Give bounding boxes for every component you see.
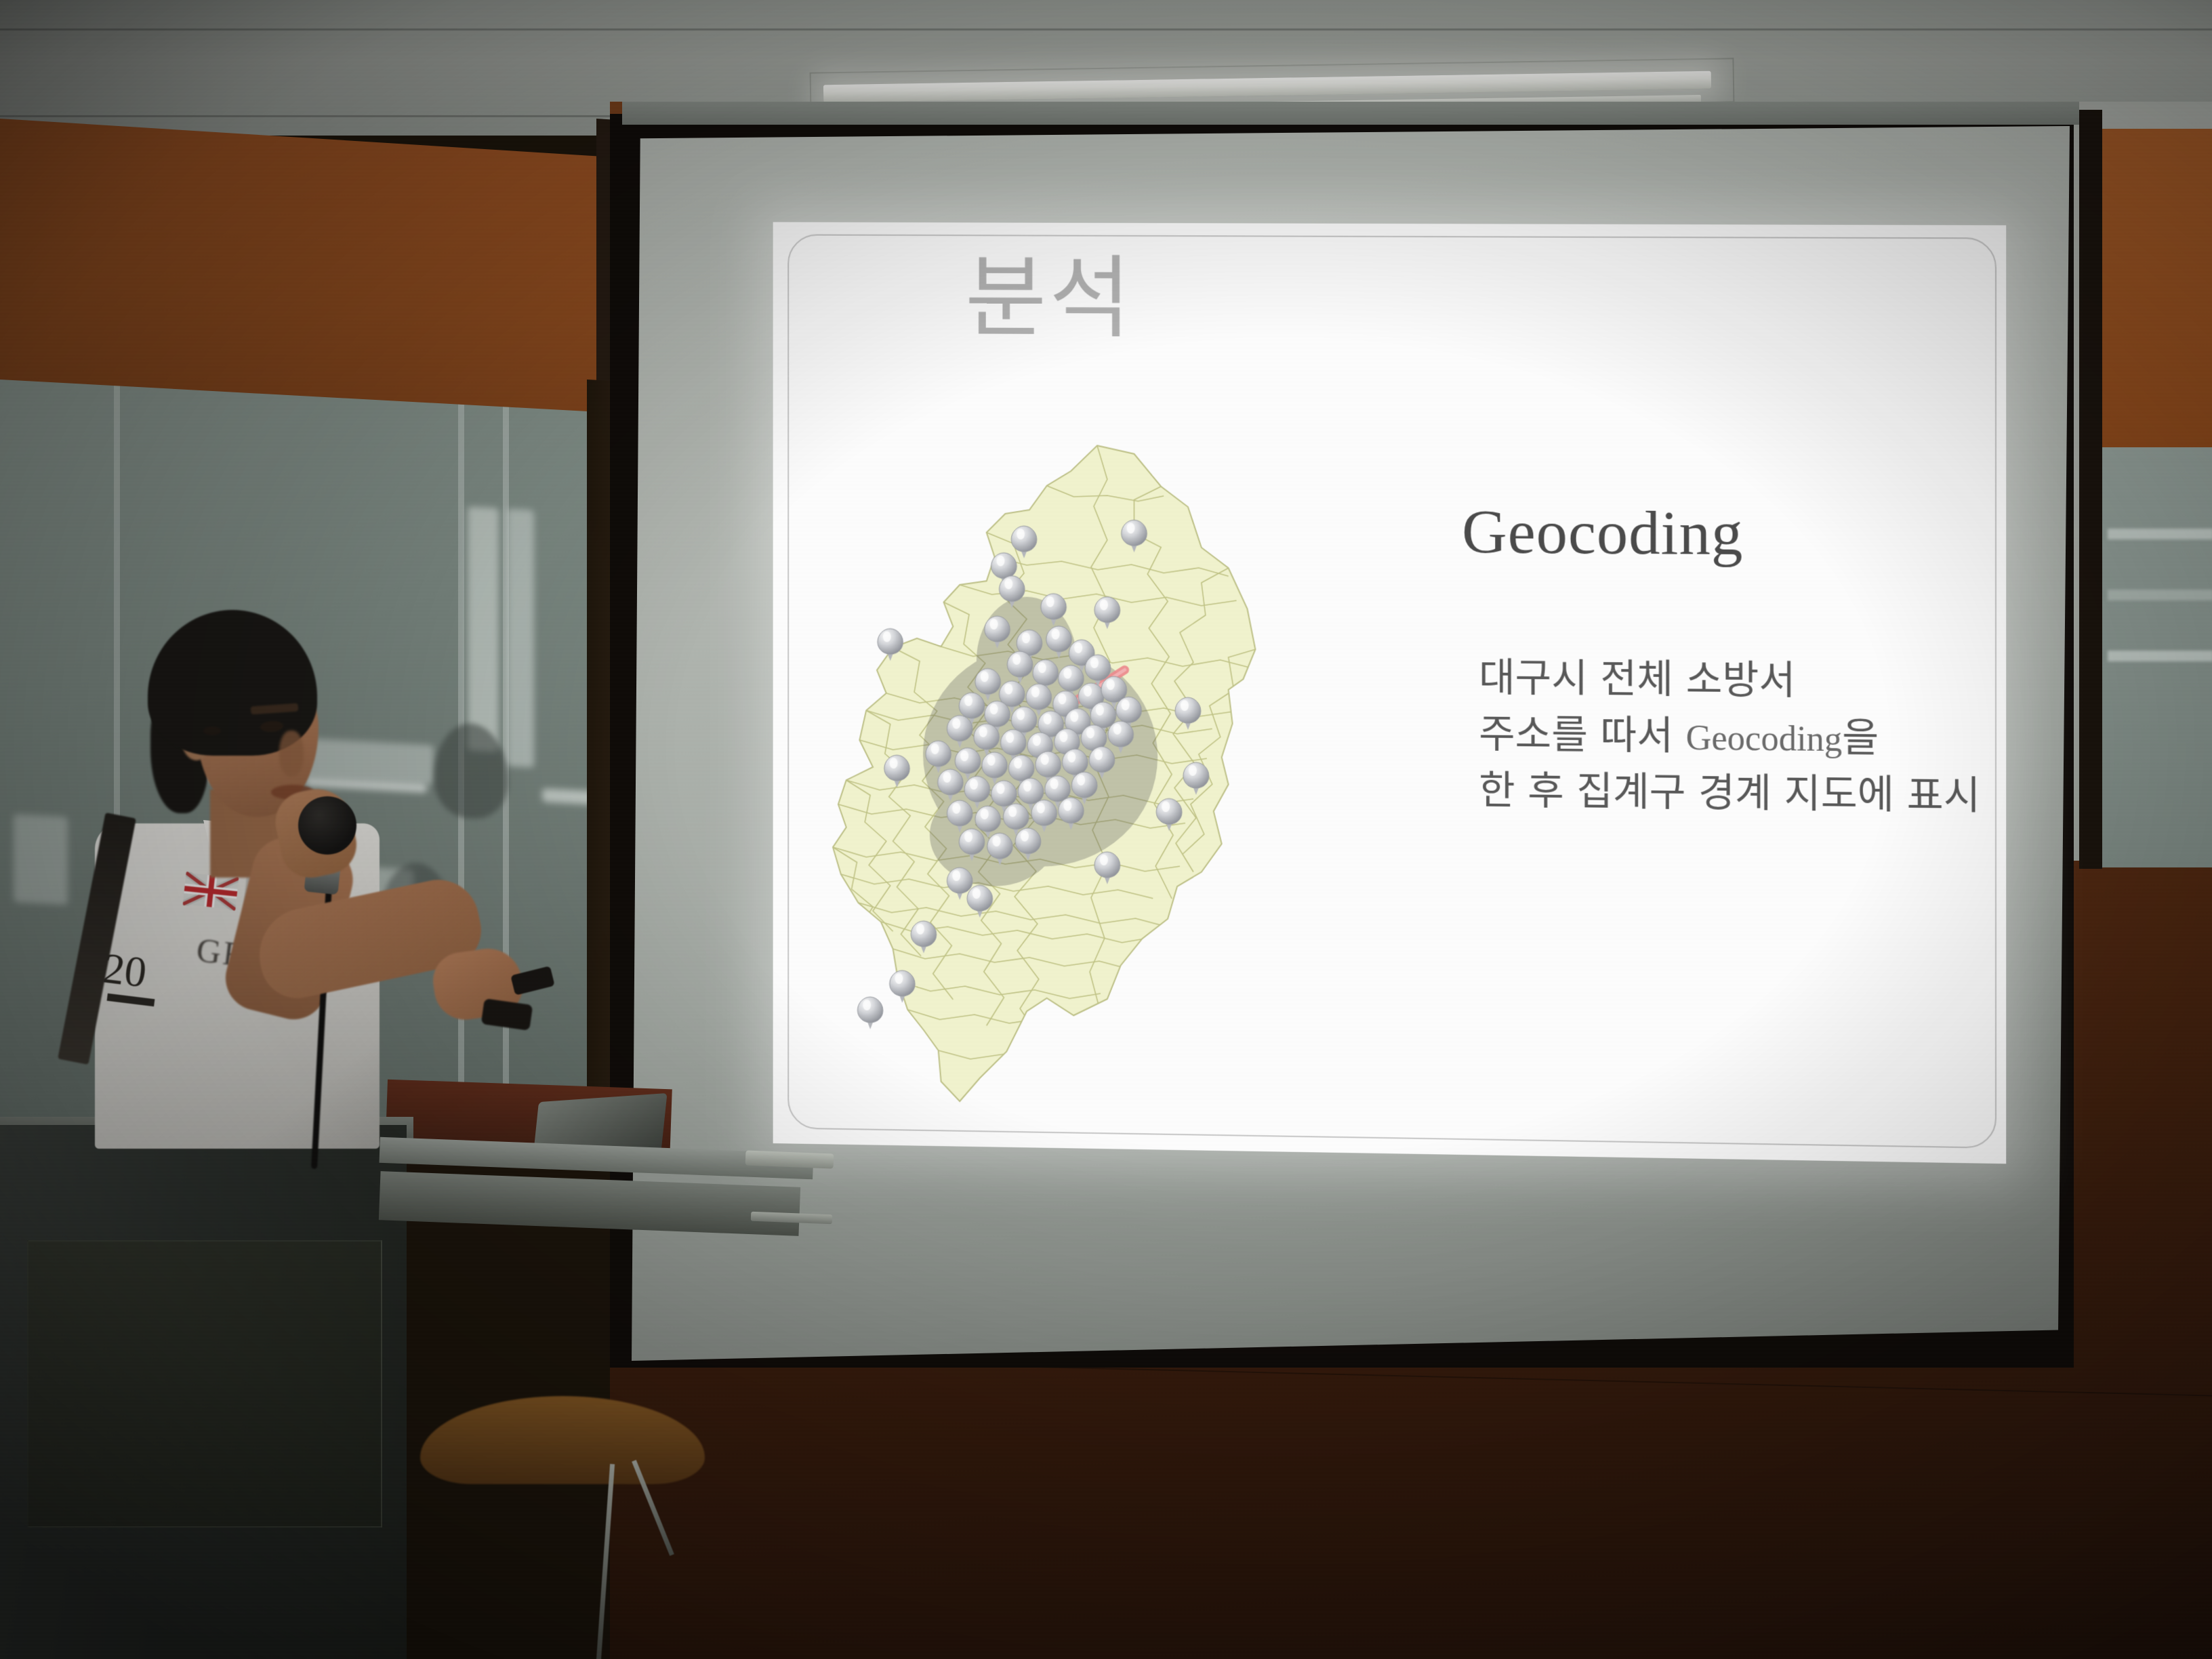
projected-slide: 분석 (773, 222, 2007, 1164)
body-line-2-post: 을 (1842, 714, 1879, 761)
right-wood-band (2101, 129, 2212, 454)
right-glass-panel (2101, 447, 2212, 867)
slide-title: 분석 (965, 249, 1133, 348)
body-line-2-pre: 주소를 따서 (1479, 711, 1685, 759)
presenter-eye (203, 726, 221, 735)
geocoding-body: 대구시 전체 소방서 주소를 따서 Geocoding을 한 후 집계구 경계 … (1479, 651, 1986, 826)
presenter-nose (279, 731, 304, 777)
map-marker-pin (857, 997, 882, 1029)
body-line-3: 한 후 집계구 경계 지도에 표시 (1479, 764, 1986, 823)
body-line-2-serif: Geocoding (1686, 719, 1843, 760)
census-tract-map (760, 403, 1336, 1131)
screenshot-root: 분석 (0, 0, 2212, 1659)
body-line-2: 주소를 따서 Geocoding을 (1479, 708, 1986, 766)
body-line-1: 대구시 전체 소방서 (1479, 651, 1986, 709)
ceiling-seam (0, 28, 2212, 30)
screen-roller (622, 102, 2079, 125)
geocoding-heading: Geocoding (1462, 495, 1743, 569)
shirt-number: 20 (100, 943, 150, 998)
microphone-icon (298, 796, 356, 855)
map-graphic (760, 403, 1336, 1131)
right-wall-edge (2079, 110, 2102, 869)
lectern-front-panel (27, 1240, 382, 1528)
